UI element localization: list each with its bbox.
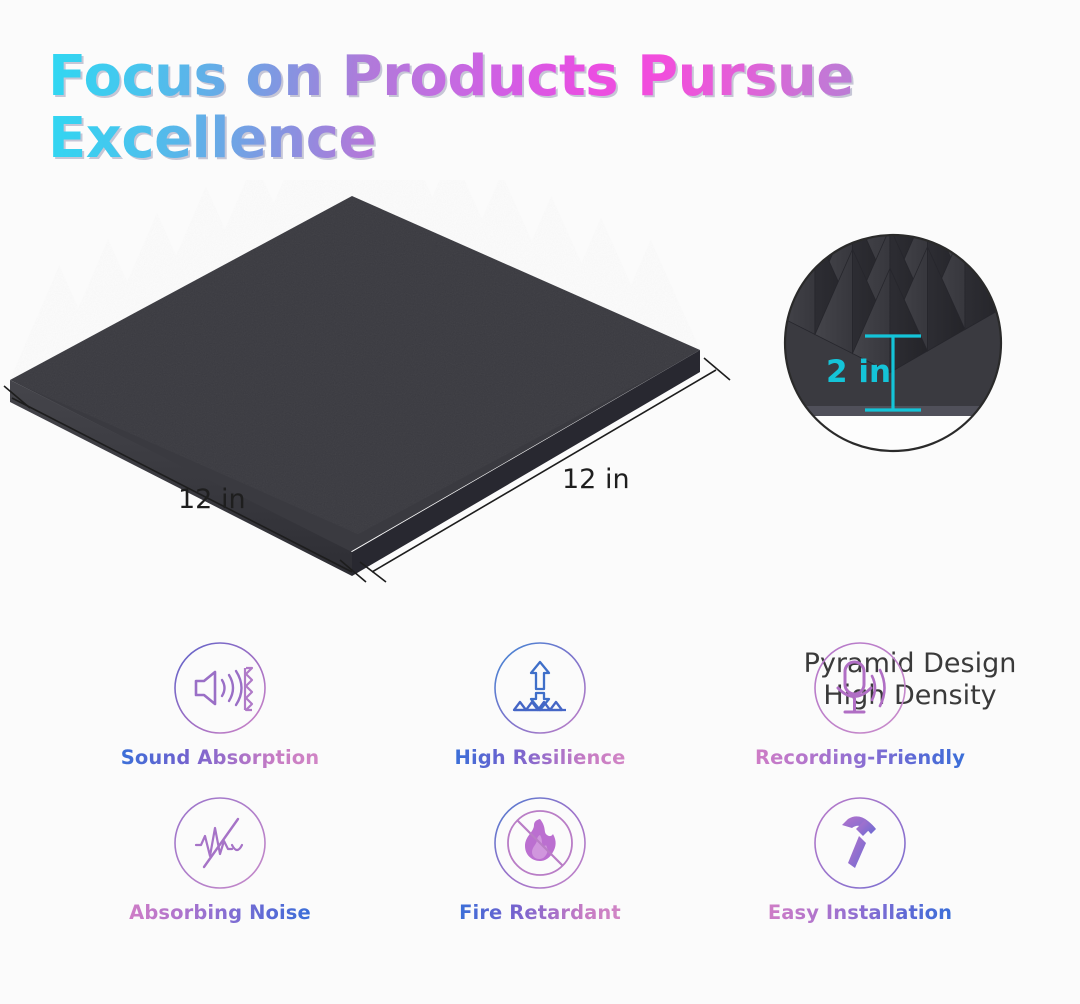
detail-callout-circle: 2 in <box>780 230 1006 456</box>
page-title: Focus on Products Pursue Excellence <box>48 46 1008 171</box>
dimension-left-label: 12 in <box>178 484 246 515</box>
feature-icon-ring <box>172 640 268 736</box>
feature-icon-ring <box>172 795 268 891</box>
feature-icon-ring <box>492 795 588 891</box>
feature-label: High Resilience <box>455 746 626 769</box>
feature-icon-ring <box>492 640 588 736</box>
speaker-waves-icon <box>172 640 268 736</box>
dimension-right-label: 12 in <box>562 464 630 495</box>
feature-icon-ring <box>812 795 908 891</box>
feature-label: Recording-Friendly <box>755 746 965 769</box>
feature-label: Sound Absorption <box>121 746 319 769</box>
feature-absorbing-noise[interactable]: Absorbing Noise <box>60 795 380 950</box>
thickness-label: 2 in <box>826 354 891 390</box>
acoustic-foam-panel: 12 in 12 in <box>0 180 790 610</box>
resilience-arrow-icon <box>492 640 588 736</box>
feature-high-resilience[interactable]: High Resilience <box>380 640 700 795</box>
waveform-slash-icon <box>172 795 268 891</box>
feature-icon-ring <box>812 640 908 736</box>
flame-noentry-icon <box>492 795 588 891</box>
feature-fire-retardant[interactable]: Fire Retardant <box>380 795 700 950</box>
feature-recording-friendly[interactable]: Recording-Friendly <box>700 640 1020 795</box>
feature-grid: Sound Absorption High Resilience <box>60 640 1020 950</box>
feature-label: Absorbing Noise <box>129 901 311 924</box>
hammer-icon <box>812 795 908 891</box>
feature-easy-installation[interactable]: Easy Installation <box>700 795 1020 950</box>
feature-label: Fire Retardant <box>459 901 621 924</box>
microphone-icon <box>812 640 908 736</box>
feature-sound-absorption[interactable]: Sound Absorption <box>60 640 380 795</box>
product-illustration: 12 in 12 in <box>0 180 1080 610</box>
feature-label: Easy Installation <box>768 901 952 924</box>
